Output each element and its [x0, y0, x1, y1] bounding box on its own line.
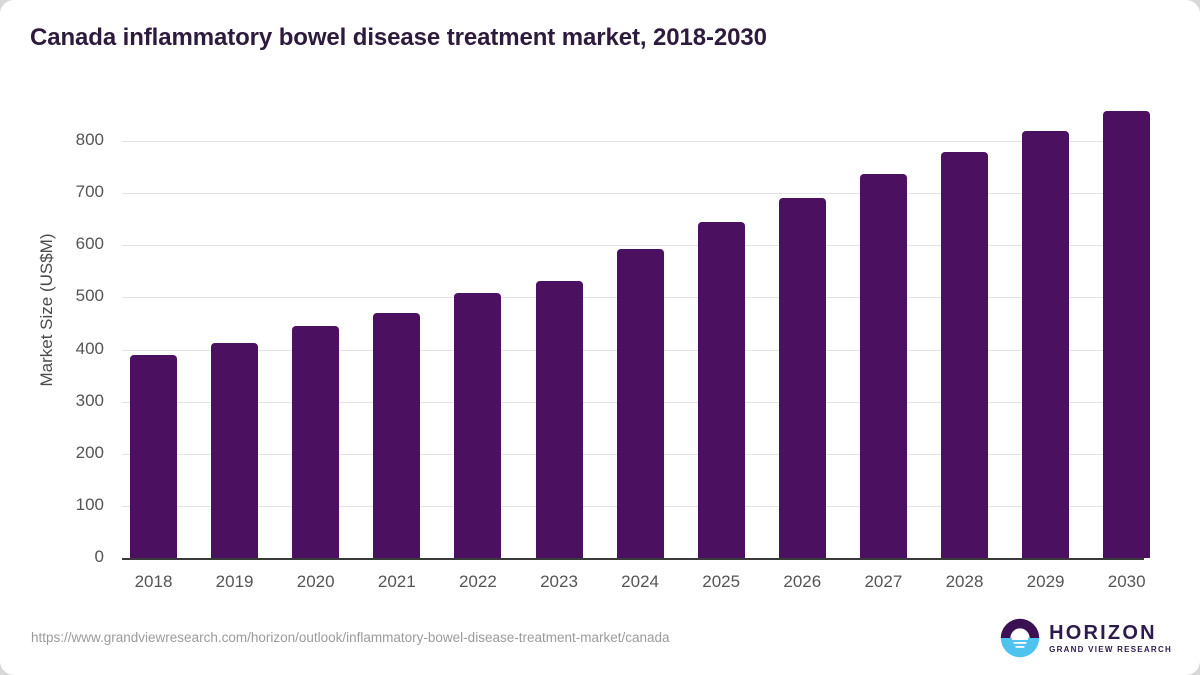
bar-series: 2018201920202021202220232024202520262027… — [0, 0, 1200, 620]
bar[interactable] — [536, 281, 583, 558]
bar[interactable] — [941, 152, 988, 558]
x-tick-label: 2022 — [454, 572, 501, 592]
logo-tagline: GRAND VIEW RESEARCH — [1049, 646, 1172, 654]
bar[interactable] — [292, 326, 339, 558]
bar[interactable] — [698, 222, 745, 558]
bar[interactable] — [454, 293, 501, 558]
x-tick-label: 2020 — [292, 572, 339, 592]
x-tick-label: 2025 — [698, 572, 745, 592]
x-tick-label: 2026 — [779, 572, 826, 592]
plot-area: Market Size (US$M) 010020030040050060070… — [0, 0, 1200, 620]
x-tick-label: 2028 — [941, 572, 988, 592]
horizon-logo-icon — [1000, 618, 1040, 658]
x-tick-label: 2023 — [536, 572, 583, 592]
horizon-logo: HORIZON GRAND VIEW RESEARCH — [1000, 618, 1172, 658]
x-tick-label: 2024 — [617, 572, 664, 592]
chart-page: Canada inflammatory bowel disease treatm… — [0, 0, 1200, 675]
bar[interactable] — [860, 174, 907, 558]
logo-text: HORIZON GRAND VIEW RESEARCH — [1049, 623, 1172, 654]
x-tick-label: 2029 — [1022, 572, 1069, 592]
x-tick-label: 2027 — [860, 572, 907, 592]
bar[interactable] — [130, 355, 177, 558]
bar[interactable] — [779, 198, 826, 558]
x-tick-label: 2021 — [373, 572, 420, 592]
x-tick-label: 2018 — [130, 572, 177, 592]
source-url[interactable]: https://www.grandviewresearch.com/horizo… — [31, 630, 670, 645]
logo-name: HORIZON — [1049, 623, 1172, 643]
bar[interactable] — [211, 343, 258, 558]
x-tick-label: 2019 — [211, 572, 258, 592]
bar[interactable] — [617, 249, 664, 558]
x-tick-label: 2030 — [1103, 572, 1150, 592]
bar[interactable] — [1022, 131, 1069, 558]
bar[interactable] — [1103, 111, 1150, 558]
bar[interactable] — [373, 313, 420, 558]
